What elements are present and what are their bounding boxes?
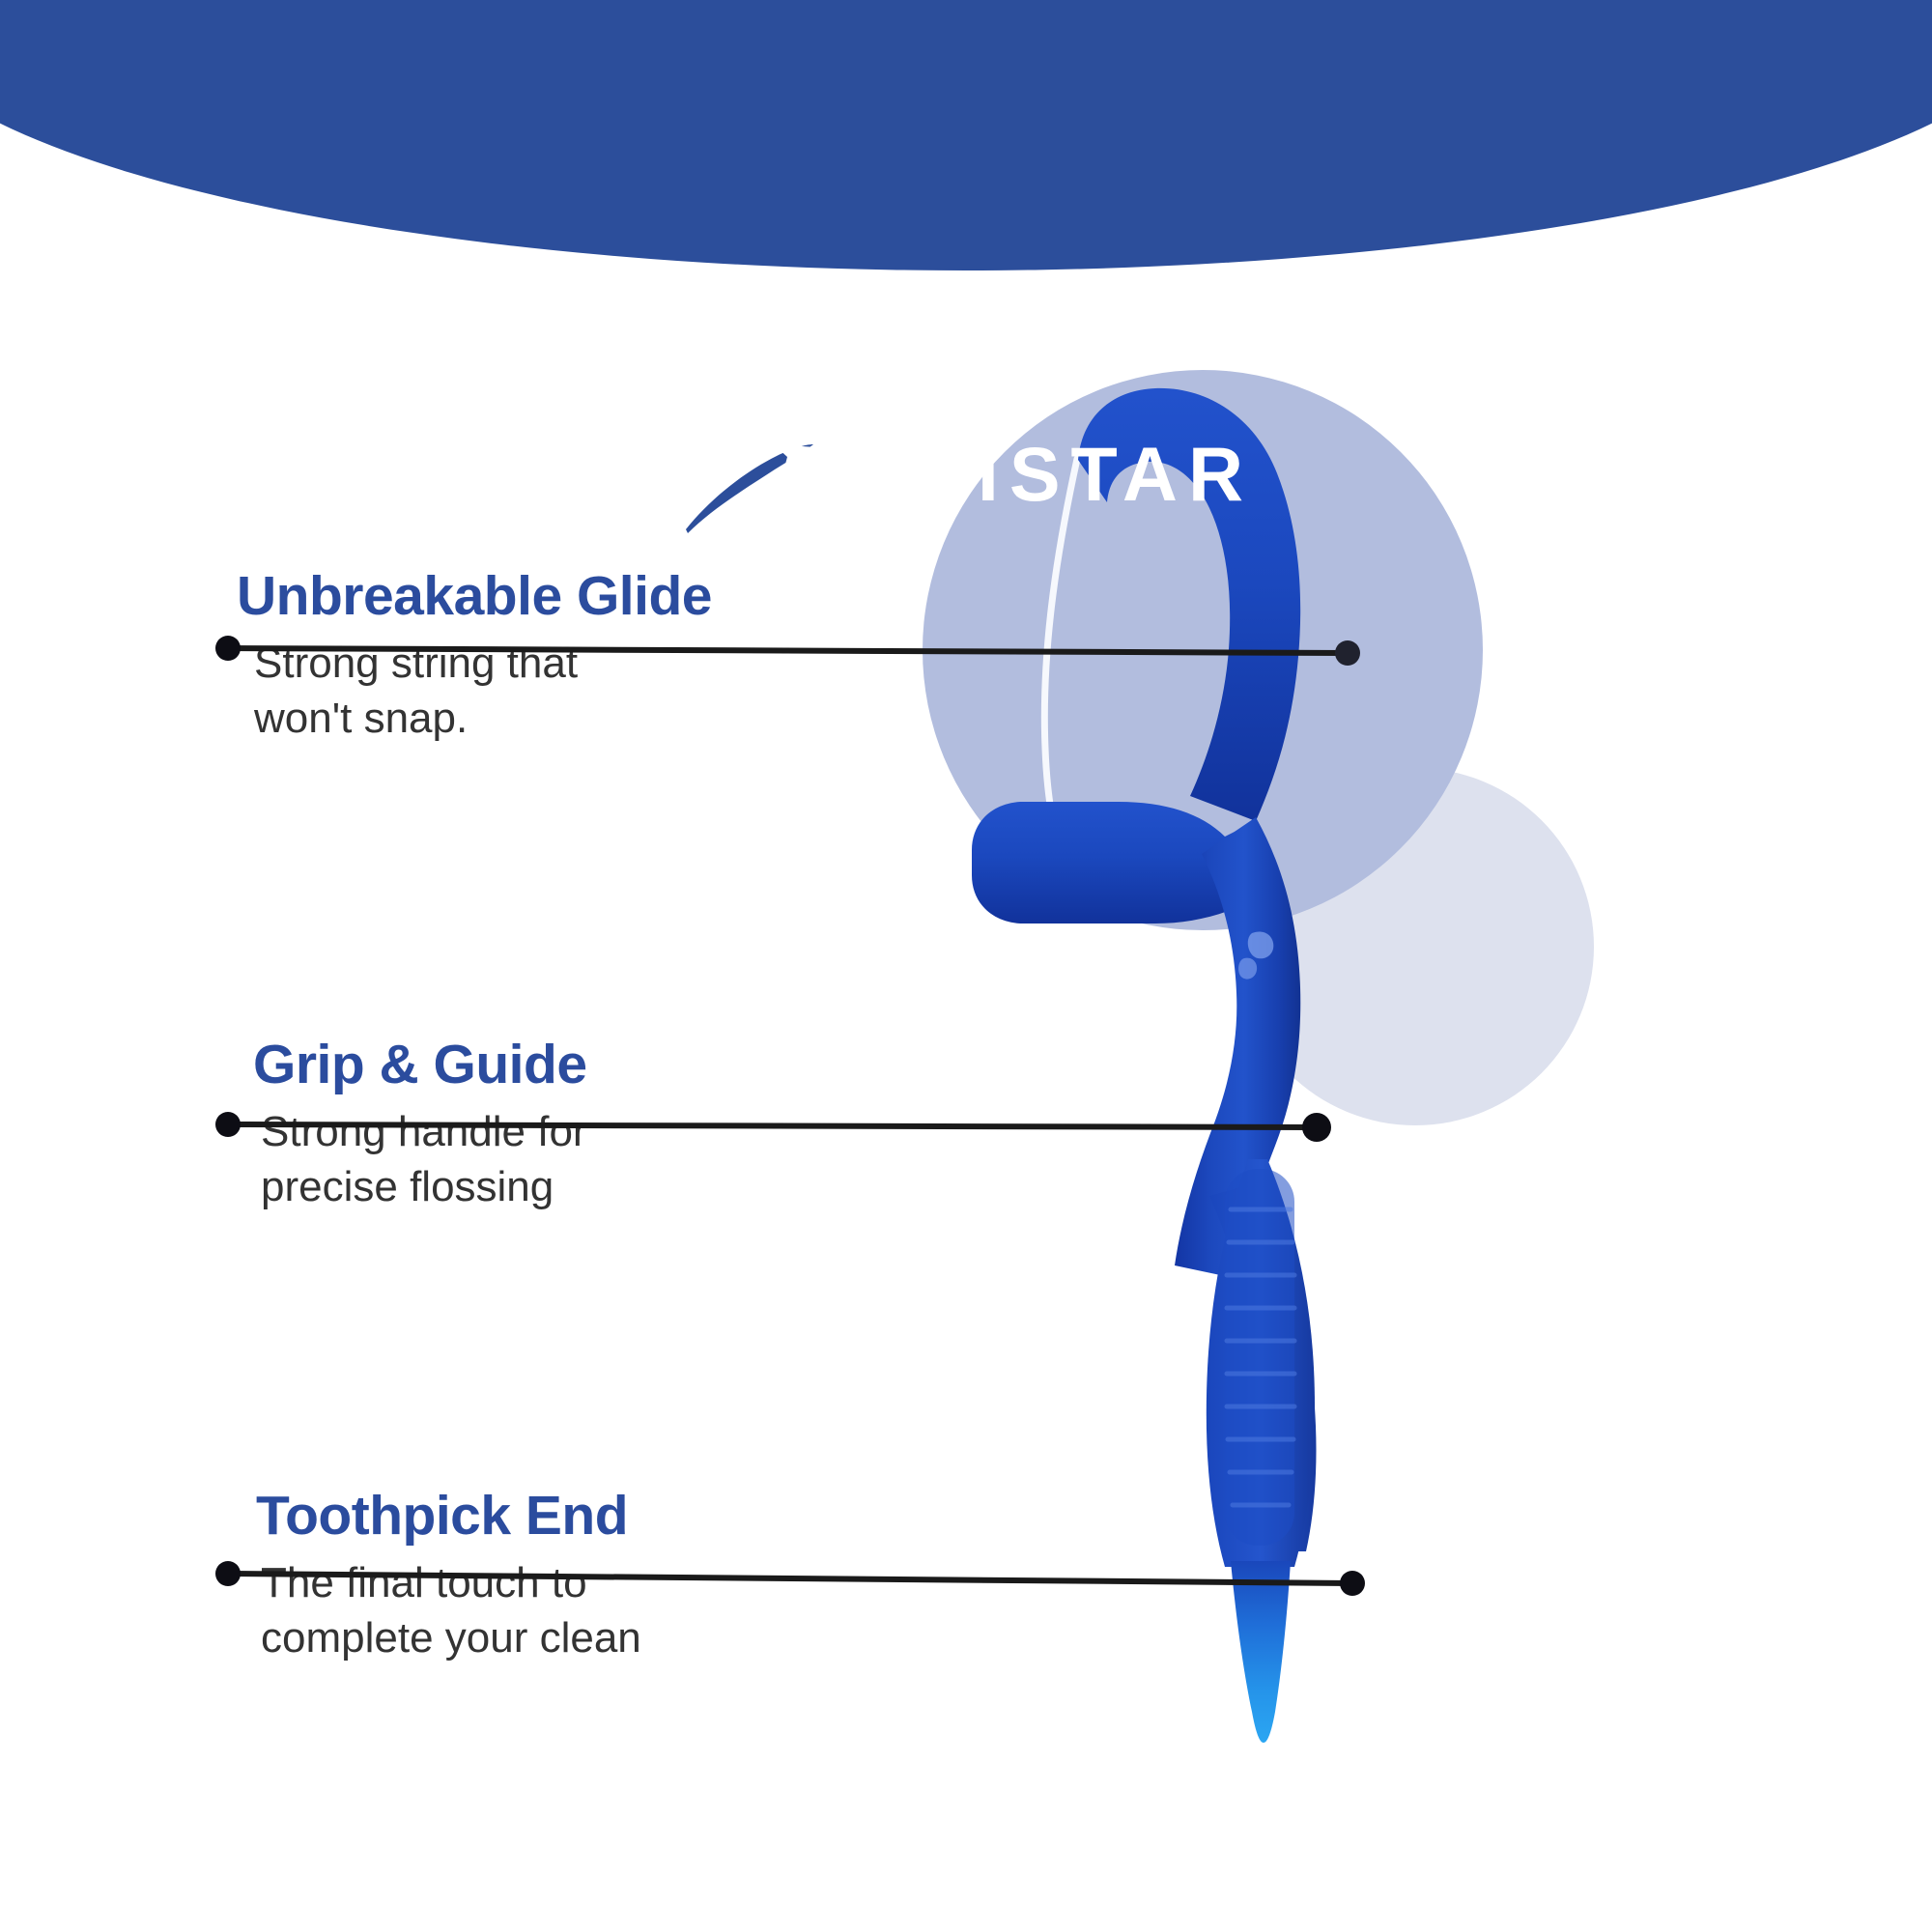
callout-title: Toothpick End bbox=[256, 1488, 641, 1545]
leader-dot-start bbox=[215, 1561, 241, 1586]
leader-dot-start bbox=[215, 1112, 241, 1137]
leader-line-toothpick-end bbox=[217, 1560, 1362, 1599]
avistar-logo-icon bbox=[678, 406, 823, 541]
brand-name: AVISTAR bbox=[856, 436, 1254, 512]
leader-dot-start bbox=[215, 636, 241, 661]
brand-header: AVISTAR bbox=[0, 396, 1932, 551]
leader-line-unbreakable-glide bbox=[217, 633, 1357, 668]
callout-title: Unbreakable Glide bbox=[237, 568, 712, 625]
handle-grip-pad bbox=[1225, 1169, 1294, 1546]
header-band bbox=[0, 0, 1932, 270]
callout-title: Grip & Guide bbox=[253, 1037, 587, 1094]
infographic-page: AVISTAR Unbreakable Glide Strong string … bbox=[0, 0, 1932, 1932]
leader-line-grip-guide bbox=[217, 1109, 1326, 1144]
leader-dot-end bbox=[1302, 1113, 1331, 1142]
leader-dot-end bbox=[1340, 1571, 1365, 1596]
leader-dot-end bbox=[1335, 640, 1360, 666]
floss-pick-illustration bbox=[966, 367, 1468, 1719]
